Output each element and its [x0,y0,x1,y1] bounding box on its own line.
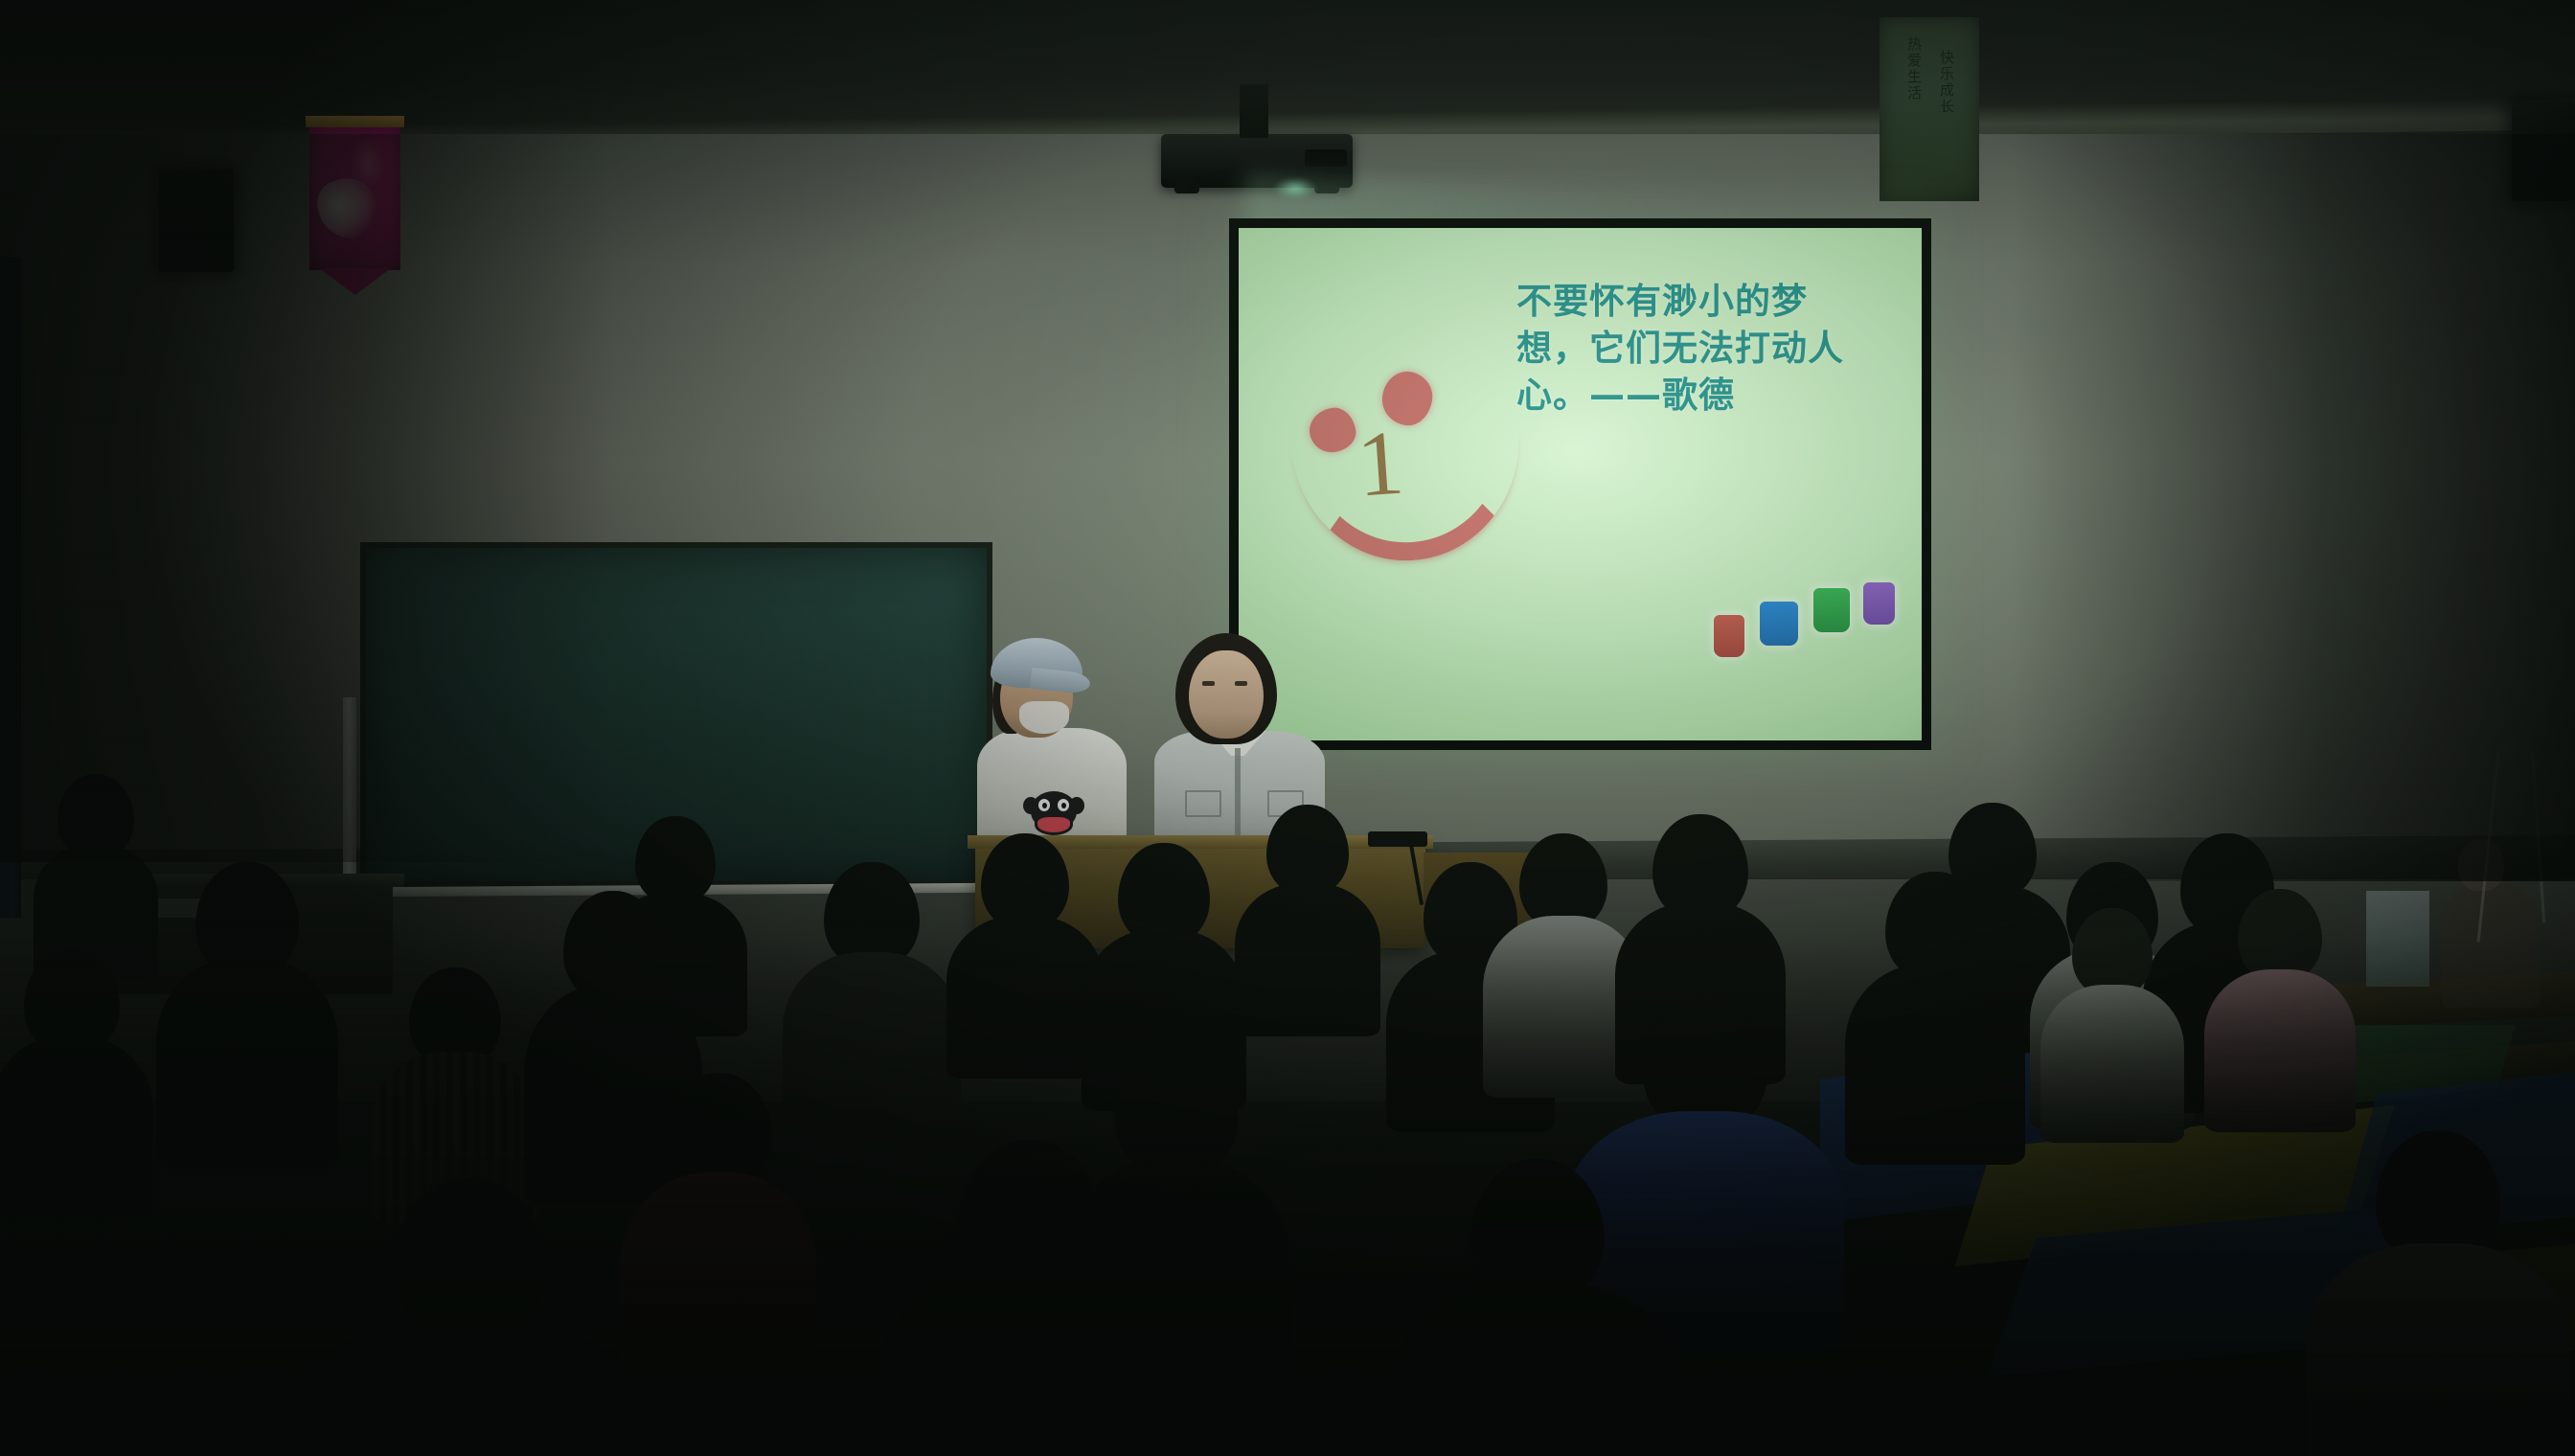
audience-member [2328,1130,2548,1456]
audience-member-pink [632,1073,805,1389]
audience-head [981,833,1069,929]
ceiling-projector [1161,134,1353,188]
slide-quote-line-2: 想，它们无法打动人 [1516,325,1900,372]
right-wall-shadow [2012,134,2575,881]
monkey-pupil-left [1042,803,1047,808]
monkey-mouth [1035,814,1073,835]
corner-person-body [2441,883,2541,1008]
corner-poster [2366,891,2429,987]
audience-body-light [2204,969,2356,1132]
audience-head [1266,805,1349,895]
projector-foot-left [1174,176,1199,193]
audience-member [613,816,738,1017]
smiley-face-illustration: 1 [1283,349,1503,540]
presenter-right-head [1189,650,1264,739]
banner-text-column-1: 热爱生活 [1903,36,1924,102]
audience-member-pink-light [2213,889,2347,1109]
presenter-left-face-mask [1019,701,1069,734]
left-wall-shadow [0,134,613,862]
audience-body [783,952,961,1144]
slide-quote-line-1: 不要怀有渺小的梦 [1516,278,1900,325]
paint-block-purple [1863,582,1895,625]
audience-member [795,862,948,1121]
projection-screen: 1 不要怀有渺小的梦 想，它们无法打动人 心。——歌德 [1239,228,1922,740]
audience-body [156,958,338,1169]
presenter-with-cap [977,621,1130,860]
slide-quote: 不要怀有渺小的梦 想，它们无法打动人 心。——歌德 [1516,278,1900,420]
projector-foot-right [1314,176,1339,193]
paint-blocks-group [1714,582,1905,659]
banner-text-column-2: 快乐成长 [1935,50,1956,115]
presenter-right-pocket-left [1185,790,1221,817]
audience-body [0,1036,153,1218]
audience-member-striped [383,967,527,1207]
audience-head [393,1178,546,1341]
audience-member [900,1140,1159,1456]
paint-block-green [1813,588,1850,632]
audience-head [1519,833,1607,929]
audience-member [171,862,324,1149]
smiley-mouth-icon [1291,429,1529,570]
projector-light-spill [1274,178,1316,199]
audience-member [326,1178,613,1456]
audience-body [297,1318,642,1456]
audience-member [1418,1159,1657,1456]
audience-head [635,816,716,904]
audience-member [1245,805,1370,1006]
presenter-right-eye-left [1202,681,1215,686]
projection-screen-frame: 1 不要怀有渺小的梦 想，它们无法打动人 心。——歌德 [1229,218,1931,750]
classroom-photo: 热爱生活 快乐成长 1 不要怀有渺小的梦 想，它们无法打动人 心。——歌德 [0,0,2575,1456]
projector-lens [1305,149,1347,167]
audience-body [1235,883,1380,1036]
audience-member [958,833,1092,1054]
paint-block-red [1714,615,1744,657]
projector-mount [1240,84,1268,138]
paint-block-blue [1760,602,1798,646]
slide-quote-line-3: 心。——歌德 [1516,372,1900,419]
monkey-pupil-right [1061,803,1066,808]
microphone-base [1368,831,1427,847]
audience-body-light [2306,1243,2570,1456]
audience-body-light [2040,985,2184,1143]
green-wall-banner: 热爱生活 快乐成长 [1880,17,1979,201]
audience-body-pink [620,1172,817,1412]
audience-head [2072,908,2153,996]
audience-head [2238,889,2322,981]
audience-body [604,893,747,1036]
audience-member [0,948,144,1197]
presenter-right-eye-right [1235,681,1247,686]
audience-member-light [2050,908,2175,1119]
audience-body [1394,1282,1681,1456]
audience-body [877,1270,1183,1456]
